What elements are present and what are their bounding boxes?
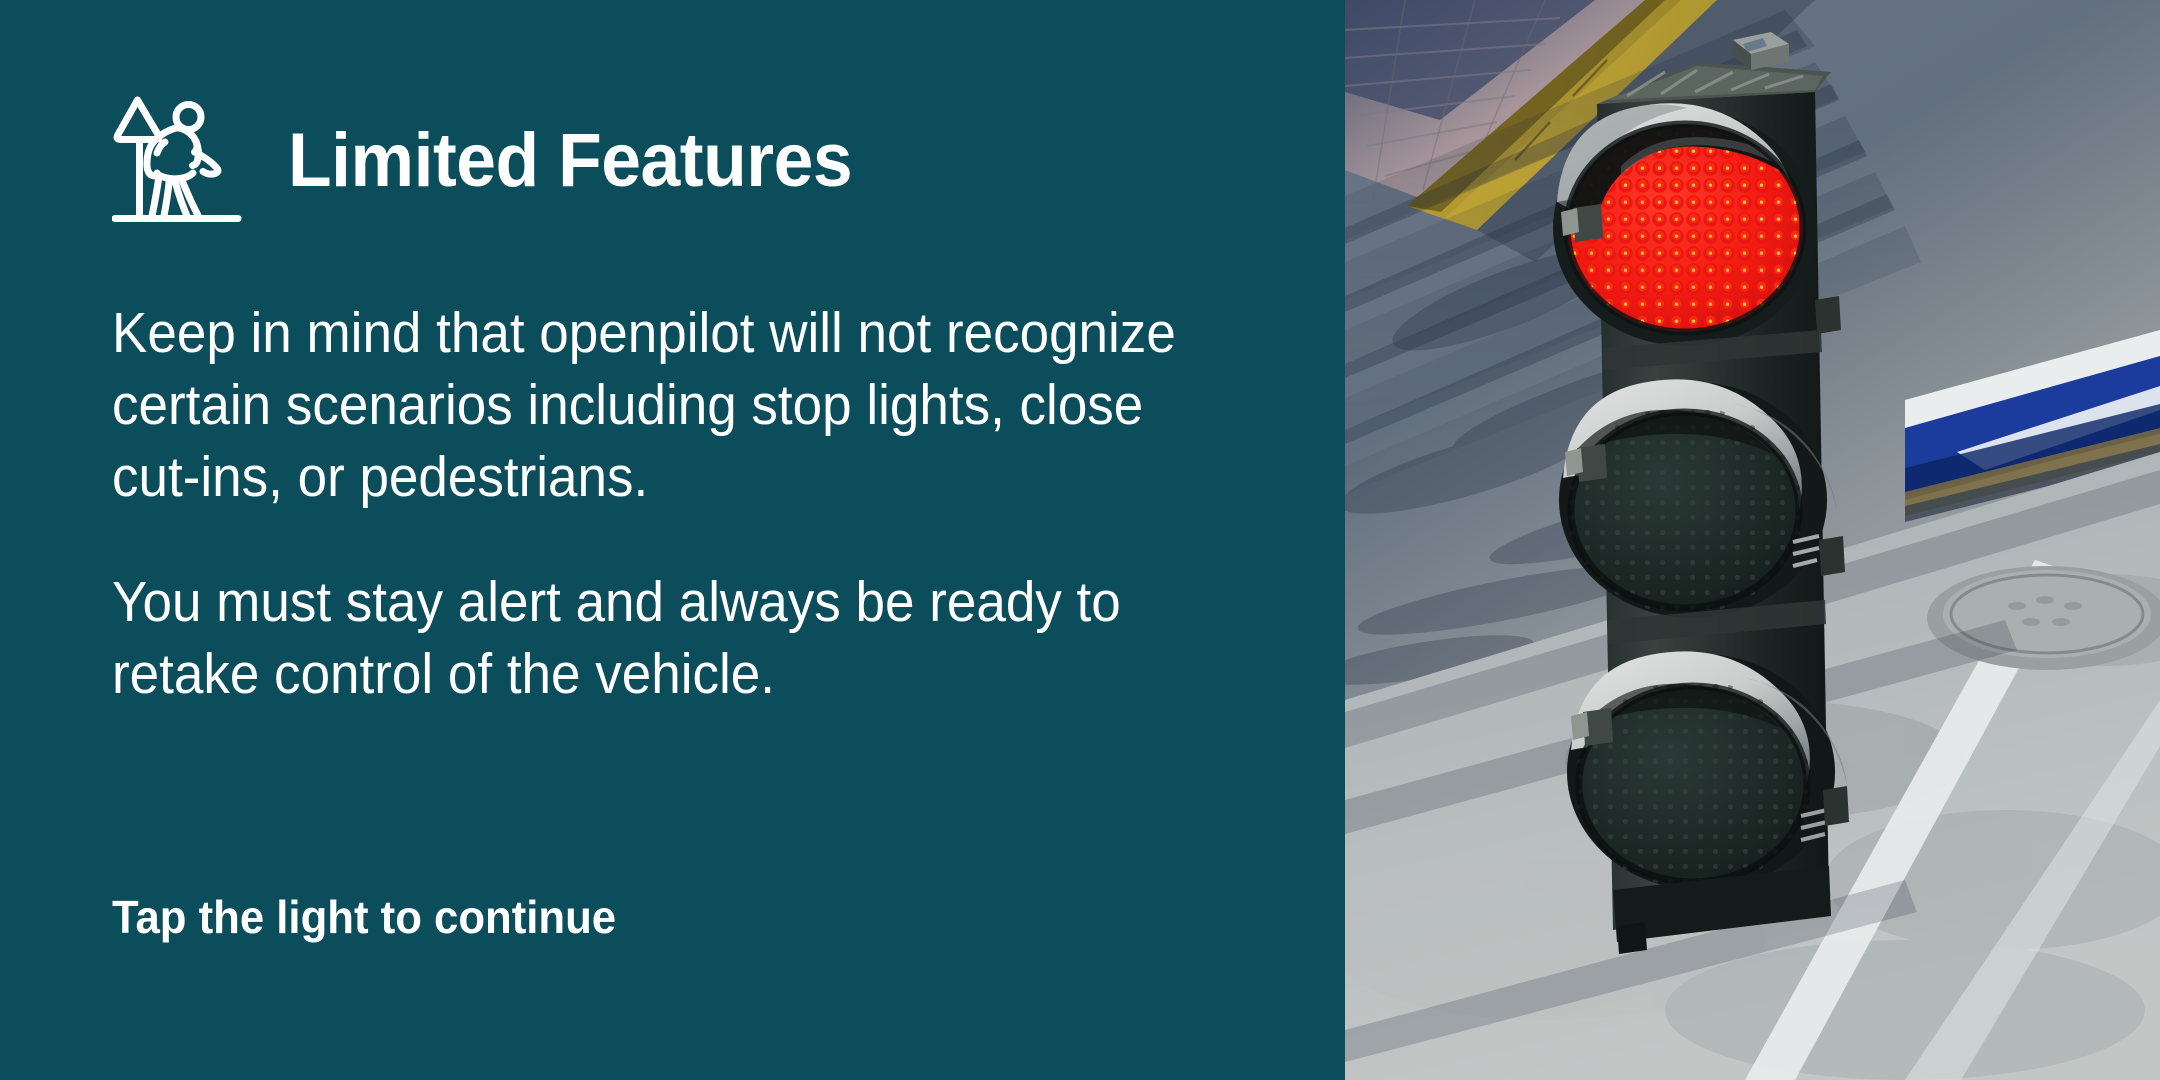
traffic-light-scene[interactable] xyxy=(1345,0,2160,1080)
info-panel: Limited Features Keep in mind that openp… xyxy=(0,0,1345,1080)
onboarding-screen: Limited Features Keep in mind that openp… xyxy=(0,0,2160,1080)
paragraph-1: Keep in mind that openpilot will not rec… xyxy=(112,298,1219,513)
paragraph-2: You must stay alert and always be ready … xyxy=(112,567,1219,711)
page-title: Limited Features xyxy=(288,123,852,199)
continue-hint: Tap the light to continue xyxy=(112,890,616,944)
traffic-light-photo[interactable] xyxy=(1345,0,2160,1080)
pedestrian-crossing-icon xyxy=(112,91,250,231)
header: Limited Features xyxy=(112,96,1345,226)
body-copy: Keep in mind that openpilot will not rec… xyxy=(112,298,1302,711)
